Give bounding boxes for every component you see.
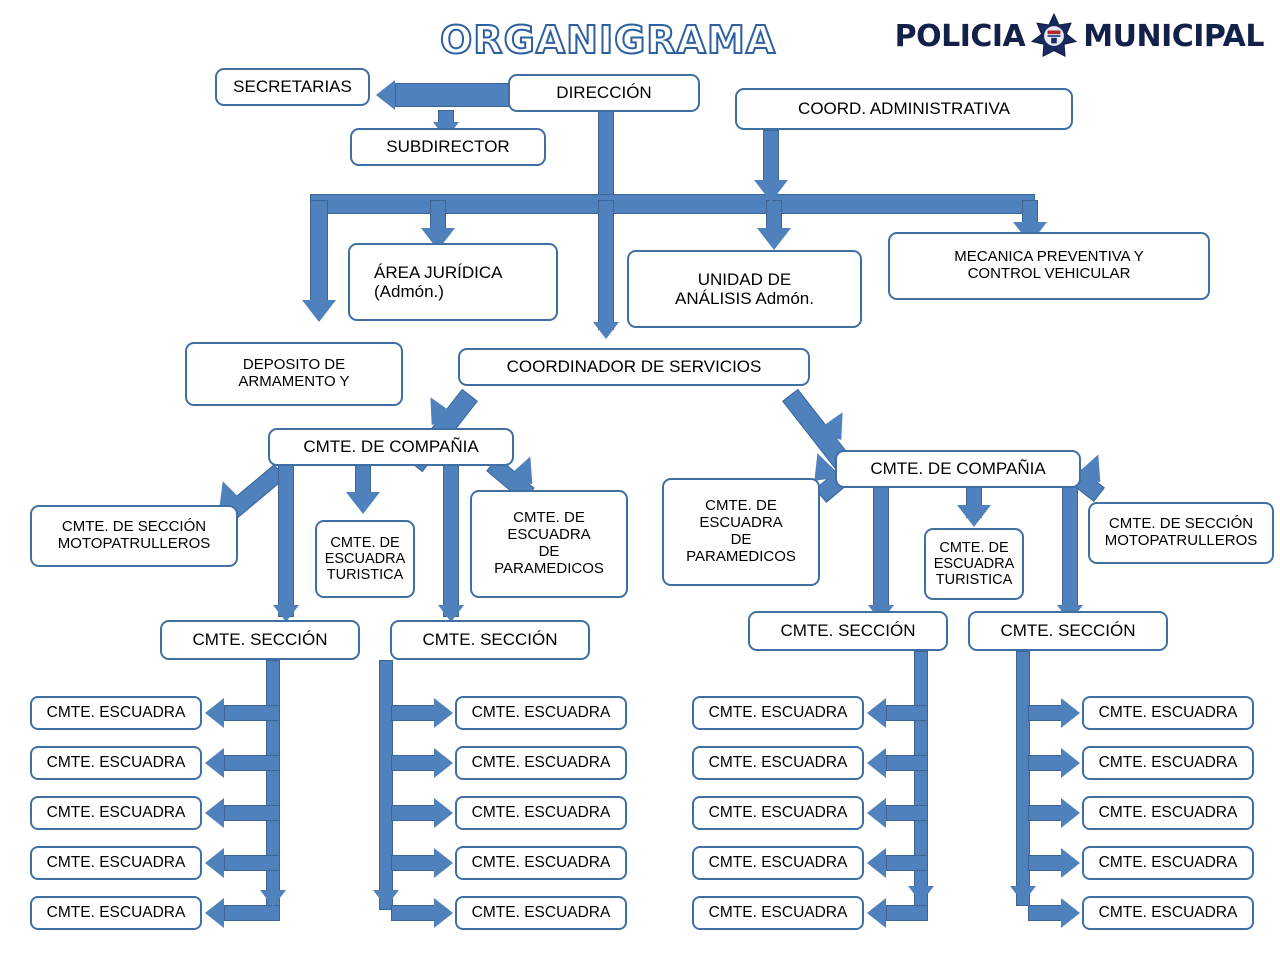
organigrama-canvas: ORGANIGRAMA POLICIA MUNICIPAL: [0, 0, 1280, 960]
arrowhead-trunk-group-4: [1010, 886, 1036, 903]
connector-compania-left-to-seccion2: [443, 462, 459, 617]
node-secretarias[interactable]: SECRETARIAS: [215, 68, 370, 106]
node-paramedicos-right-line4: PARAMEDICOS: [686, 549, 796, 566]
arrowhead-trunk-group-1: [260, 890, 286, 907]
node-cmte-escuadra[interactable]: CMTE. ESCUADRA: [692, 746, 864, 780]
node-cmte-escuadra[interactable]: CMTE. ESCUADRA: [1082, 846, 1254, 880]
arrowhead-group-4-item-0: [1061, 698, 1080, 728]
node-turistica-right-line1: CMTE. DE: [939, 540, 1008, 556]
connector-group-1-item-2: [224, 805, 280, 821]
connector-group-2-item-0: [391, 705, 437, 721]
node-direccion[interactable]: DIRECCIÓN: [508, 74, 700, 112]
connector-group-4-item-0: [1028, 705, 1064, 721]
policia-municipal-logo: POLICIA MUNICIPAL: [895, 12, 1264, 60]
node-cmte-escuadra[interactable]: CMTE. ESCUADRA: [1082, 896, 1254, 930]
connector-group-3-item-4: [886, 905, 928, 921]
node-cmte-escuadra[interactable]: CMTE. ESCUADRA: [692, 846, 864, 880]
node-area-juridica[interactable]: ÁREA JURÍDICA (Admón.): [348, 243, 558, 321]
node-moto-left-line2: MOTOPATRULLEROS: [58, 536, 211, 553]
node-cmte-seccion-4[interactable]: CMTE. SECCIÓN: [968, 611, 1168, 651]
trunk-group-2: [379, 660, 393, 910]
node-area-juridica-line1: ÁREA JURÍDICA: [374, 263, 502, 282]
node-cmte-escuadra-turistica-right[interactable]: CMTE. DE ESCUADRA TURISTICA: [924, 528, 1024, 600]
connector-group-3-item-0: [886, 705, 928, 721]
connector-group-4-item-3: [1028, 855, 1064, 871]
connector-group-4-item-1: [1028, 755, 1064, 771]
node-cmte-seccion-motopatrulleros-right[interactable]: CMTE. DE SECCIÓN MOTOPATRULLEROS: [1088, 502, 1274, 564]
connector-group-3-item-3: [886, 855, 928, 871]
node-moto-left-line1: CMTE. DE SECCIÓN: [62, 519, 206, 536]
arrowhead-deposito: [302, 300, 336, 322]
node-turistica-left-line2: ESCUADRA: [325, 551, 406, 567]
arrowhead-group-2-item-1: [434, 748, 453, 778]
arrowhead-group-3-item-2: [867, 798, 886, 828]
node-cmte-escuadra-paramedicos-left[interactable]: CMTE. DE ESCUADRA DE PARAMEDICOS: [470, 490, 628, 598]
node-mecanica-preventiva[interactable]: MECANICA PREVENTIVA Y CONTROL VEHICULAR: [888, 232, 1210, 300]
connector-compania-right-to-seccion4: [1062, 478, 1078, 620]
logo-word-policia: POLICIA: [895, 19, 1026, 54]
arrowhead-group-4-item-2: [1061, 798, 1080, 828]
connector-group-2-item-4: [391, 905, 437, 921]
node-coordinador-servicios[interactable]: COORDINADOR DE SERVICIOS: [458, 348, 810, 386]
node-cmte-escuadra[interactable]: CMTE. ESCUADRA: [1082, 696, 1254, 730]
connector-group-2-item-2: [391, 805, 437, 821]
arrowhead-group-4-item-3: [1061, 848, 1080, 878]
arrowhead-group-1-item-1: [205, 748, 224, 778]
node-cmte-escuadra[interactable]: CMTE. ESCUADRA: [455, 846, 627, 880]
connector-group-3-item-2: [886, 805, 928, 821]
arrowhead-group-1-item-3: [205, 848, 224, 878]
node-unidad-analisis-line1: UNIDAD DE: [698, 270, 792, 289]
connector-group-1-item-0: [224, 705, 280, 721]
arrowhead-group-2-item-3: [434, 848, 453, 878]
node-cmte-escuadra[interactable]: CMTE. ESCUADRA: [692, 896, 864, 930]
node-cmte-seccion-motopatrulleros-left[interactable]: CMTE. DE SECCIÓN MOTOPATRULLEROS: [30, 505, 238, 567]
node-paramedicos-left-line1: CMTE. DE: [513, 510, 585, 527]
node-coord-administrativa[interactable]: COORD. ADMINISTRATIVA: [735, 88, 1073, 130]
connector-bus-to-deposito: [310, 200, 328, 310]
node-paramedicos-left-line4: PARAMEDICOS: [494, 561, 604, 578]
connector-group-4-item-2: [1028, 805, 1064, 821]
node-turistica-left-line3: TURISTICA: [327, 567, 404, 583]
connector-bus-to-coordservicios: [598, 200, 614, 330]
connector-group-2-item-3: [391, 855, 437, 871]
arrowhead-unidad: [757, 228, 791, 250]
node-mecanica-line1: MECANICA PREVENTIVA Y: [954, 249, 1144, 266]
node-cmte-escuadra[interactable]: CMTE. ESCUADRA: [30, 746, 202, 780]
node-paramedicos-right-line1: CMTE. DE: [705, 498, 777, 515]
connector-compania-left-to-seccion1: [278, 462, 294, 617]
arrowhead-group-3-item-3: [867, 848, 886, 878]
node-subdirector[interactable]: SUBDIRECTOR: [350, 128, 546, 166]
node-turistica-right-line3: TURISTICA: [936, 572, 1013, 588]
connector-group-1-item-4: [224, 905, 280, 921]
connector-group-4-item-4: [1028, 905, 1064, 921]
node-area-juridica-line2: (Admón.): [374, 282, 444, 301]
node-turistica-right-line2: ESCUADRA: [934, 556, 1015, 572]
arrowhead-trunk-group-3: [908, 886, 934, 903]
node-cmte-seccion-3[interactable]: CMTE. SECCIÓN: [748, 611, 948, 651]
arrowhead-turistica-right: [957, 505, 991, 527]
node-cmte-escuadra[interactable]: CMTE. ESCUADRA: [1082, 746, 1254, 780]
connector-group-1-item-3: [224, 855, 280, 871]
node-cmte-escuadra[interactable]: CMTE. ESCUADRA: [692, 796, 864, 830]
arrowhead-group-2-item-0: [434, 698, 453, 728]
connector-group-1-item-1: [224, 755, 280, 771]
node-deposito-line1: DEPOSITO DE: [243, 357, 345, 374]
node-cmte-compania-right[interactable]: CMTE. DE COMPAÑIA: [835, 450, 1081, 488]
node-cmte-escuadra[interactable]: CMTE. ESCUADRA: [30, 896, 202, 930]
node-cmte-escuadra[interactable]: CMTE. ESCUADRA: [30, 796, 202, 830]
arrowhead-group-2-item-2: [434, 798, 453, 828]
node-unidad-analisis[interactable]: UNIDAD DE ANÁLISIS Admón.: [627, 250, 862, 328]
arrowhead-group-4-item-1: [1061, 748, 1080, 778]
arrowhead-trunk-group-2: [373, 890, 399, 907]
arrowhead-group-3-item-4: [867, 898, 886, 928]
connector-direccion-to-bus: [598, 110, 614, 202]
arrowhead-coordadmin: [754, 180, 788, 202]
node-cmte-escuadra-paramedicos-right[interactable]: CMTE. DE ESCUADRA DE PARAMEDICOS: [662, 478, 820, 586]
node-deposito-armamento[interactable]: DEPOSITO DE ARMAMENTO Y: [185, 342, 403, 406]
node-cmte-escuadra[interactable]: CMTE. ESCUADRA: [455, 896, 627, 930]
arrowhead-coordservicios: [593, 322, 619, 339]
node-mecanica-line2: CONTROL VEHICULAR: [968, 266, 1131, 283]
node-cmte-escuadra[interactable]: CMTE. ESCUADRA: [30, 846, 202, 880]
arrowhead-group-3-item-1: [867, 748, 886, 778]
connector-direccion-to-secretarias: [395, 83, 515, 107]
node-cmte-escuadra[interactable]: CMTE. ESCUADRA: [455, 696, 627, 730]
node-cmte-escuadra[interactable]: CMTE. ESCUADRA: [1082, 796, 1254, 830]
node-cmte-escuadra-turistica-left[interactable]: CMTE. DE ESCUADRA TURISTICA: [315, 520, 415, 598]
connector-compania-right-to-seccion3: [873, 478, 889, 620]
arrowhead-group-1-item-0: [205, 698, 224, 728]
connector-main-bus: [310, 194, 1035, 214]
connector-group-2-item-1: [391, 755, 437, 771]
connector-group-3-item-1: [886, 755, 928, 771]
arrowhead-turistica-left: [346, 492, 380, 514]
arrowhead-secretarias: [376, 80, 395, 110]
trunk-group-1: [266, 660, 280, 910]
node-cmte-escuadra[interactable]: CMTE. ESCUADRA: [455, 746, 627, 780]
node-moto-right-line2: MOTOPATRULLEROS: [1105, 533, 1258, 550]
node-moto-right-line1: CMTE. DE SECCIÓN: [1109, 516, 1253, 533]
node-cmte-escuadra[interactable]: CMTE. ESCUADRA: [30, 696, 202, 730]
node-paramedicos-right-line2: ESCUADRA: [699, 515, 782, 532]
node-paramedicos-right-line3: DE: [731, 532, 752, 549]
police-star-badge-icon: [1031, 13, 1077, 59]
page-title: ORGANIGRAMA: [440, 18, 760, 62]
arrowhead-group-3-item-0: [867, 698, 886, 728]
node-deposito-line2: ARMAMENTO Y: [238, 374, 349, 391]
node-turistica-left-line1: CMTE. DE: [330, 535, 399, 551]
arrowhead-group-1-item-2: [205, 798, 224, 828]
node-cmte-compania-left[interactable]: CMTE. DE COMPAÑIA: [268, 428, 514, 466]
logo-word-municipal: MUNICIPAL: [1083, 19, 1264, 54]
node-paramedicos-left-line3: DE: [539, 544, 560, 561]
node-paramedicos-left-line2: ESCUADRA: [507, 527, 590, 544]
node-cmte-seccion-2[interactable]: CMTE. SECCIÓN: [390, 620, 590, 660]
arrowhead-group-4-item-4: [1061, 898, 1080, 928]
node-cmte-escuadra[interactable]: CMTE. ESCUADRA: [692, 696, 864, 730]
arrowhead-group-2-item-4: [434, 898, 453, 928]
node-unidad-analisis-line2: ANÁLISIS Admón.: [675, 289, 814, 308]
node-cmte-escuadra[interactable]: CMTE. ESCUADRA: [455, 796, 627, 830]
arrowhead-group-1-item-4: [205, 898, 224, 928]
node-cmte-seccion-1[interactable]: CMTE. SECCIÓN: [160, 620, 360, 660]
